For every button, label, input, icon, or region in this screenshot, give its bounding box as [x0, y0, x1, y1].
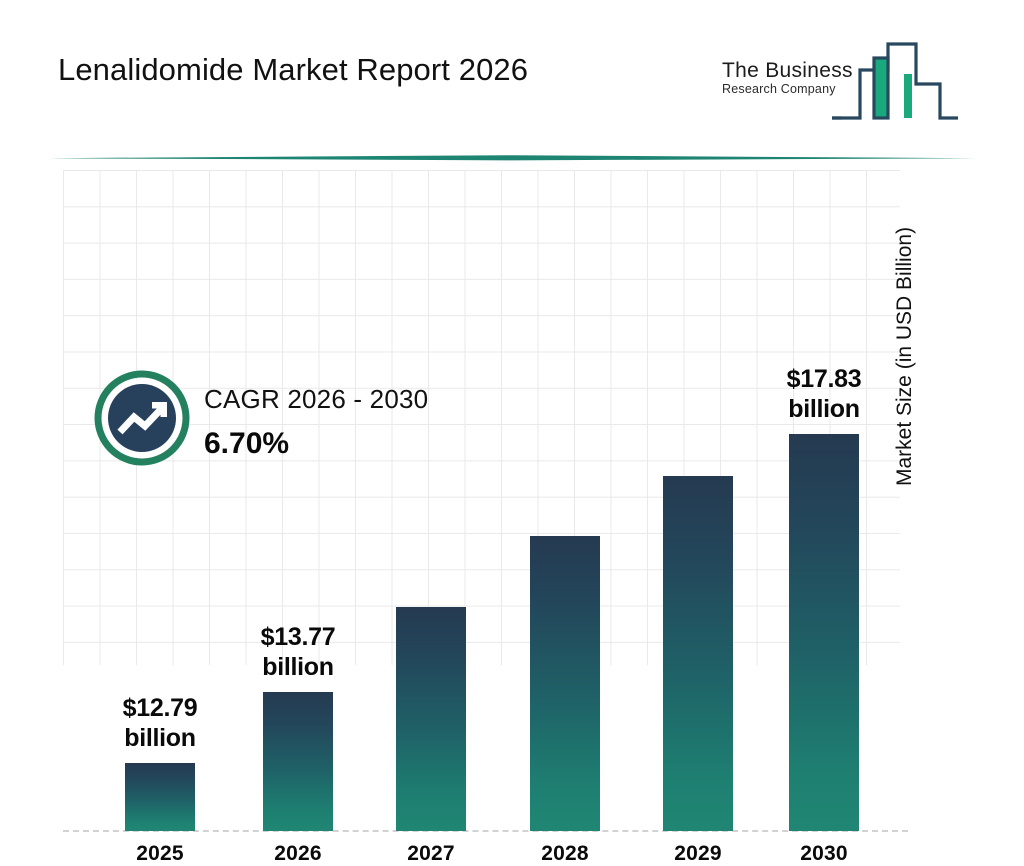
header: Lenalidomide Market Report 2026 The Busi…	[0, 0, 1024, 140]
bar-value-2026-amount: $13.77	[223, 622, 373, 652]
x-axis-label-2030: 2030	[774, 842, 874, 866]
x-axis-label-2026: 2026	[248, 842, 348, 866]
bar-2026[interactable]	[263, 692, 333, 831]
bar-value-2026-unit: billion	[223, 652, 373, 682]
x-axis-label-2027: 2027	[381, 842, 481, 866]
cagr-period-label: CAGR 2026 - 2030	[204, 384, 428, 415]
cagr-value-label: 6.70%	[204, 427, 428, 461]
bar-2028[interactable]	[530, 536, 600, 831]
y-axis-title: Market Size (in USD Billion)	[893, 106, 917, 486]
cagr-text-block: CAGR 2026 - 2030 6.70%	[204, 384, 428, 461]
bar-2027[interactable]	[396, 607, 466, 831]
trending-up-icon	[94, 370, 190, 471]
bar-2030[interactable]	[789, 434, 859, 831]
bar-value-2025: $12.79 billion	[85, 693, 235, 753]
bar-chart: $12.79 billion $13.77 billion $17.83 bil…	[0, 166, 1024, 768]
bar-value-2030-amount: $17.83	[749, 364, 899, 394]
bar-value-2026: $13.77 billion	[223, 622, 373, 682]
page-title: Lenalidomide Market Report 2026	[58, 52, 528, 88]
company-logo: The Business Research Company	[722, 32, 966, 124]
bar-2029[interactable]	[663, 476, 733, 831]
cagr-badge: CAGR 2026 - 2030 6.70%	[94, 370, 514, 474]
bar-value-2025-amount: $12.79	[85, 693, 235, 723]
bar-value-2025-unit: billion	[85, 723, 235, 753]
bar-value-2030: $17.83 billion	[749, 364, 899, 424]
x-axis-label-2025: 2025	[110, 842, 210, 866]
x-axis-label-2029: 2029	[648, 842, 748, 866]
bar-2025[interactable]	[125, 763, 195, 831]
section-divider	[48, 150, 976, 166]
x-axis-label-2028: 2028	[515, 842, 615, 866]
bar-value-2030-unit: billion	[749, 394, 899, 424]
